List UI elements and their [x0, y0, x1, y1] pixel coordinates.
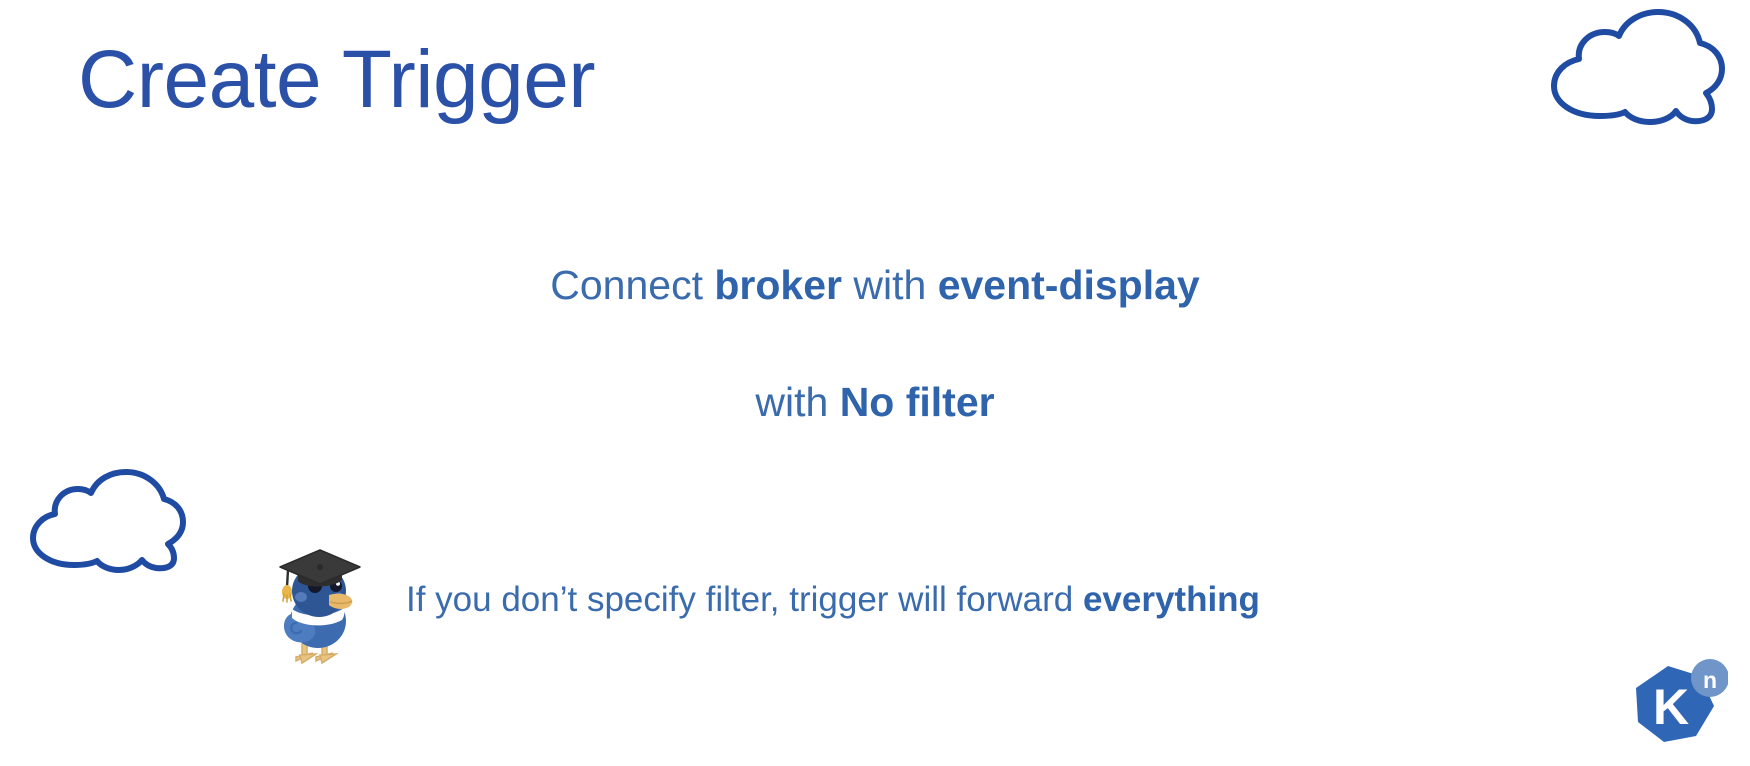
note-row: If you don’t specify filter, trigger wil…	[272, 545, 1332, 655]
body-line1-event-display: event-display	[938, 262, 1200, 308]
body-line1-part1: Connect	[550, 262, 714, 308]
body-line-connect: Connect broker with event-display	[0, 260, 1750, 311]
svg-text:K: K	[1653, 679, 1689, 735]
note-text: If you don’t specify filter, trigger wil…	[406, 579, 1260, 621]
slide-canvas: Create Trigger Connect broker with event…	[0, 0, 1750, 766]
body-line2-no-filter: No filter	[840, 379, 995, 425]
cloud-icon	[1540, 8, 1726, 126]
body-line-spacer	[0, 311, 1750, 377]
body-line-filter: with No filter	[0, 377, 1750, 428]
bird-graduate-icon	[272, 547, 364, 665]
cloud-icon	[20, 468, 188, 574]
knative-logo: K n	[1624, 652, 1728, 756]
body-text-block: Connect broker with event-display with N…	[0, 260, 1750, 429]
page-title: Create Trigger	[78, 36, 595, 125]
body-line2-part1: with	[755, 379, 839, 425]
note-text-prefix: If you don’t specify filter, trigger wil…	[406, 580, 1083, 619]
body-line1-part2: with	[842, 262, 938, 308]
svg-text:n: n	[1703, 667, 1717, 693]
note-text-emphasis: everything	[1083, 580, 1260, 619]
body-line1-broker: broker	[714, 262, 842, 308]
